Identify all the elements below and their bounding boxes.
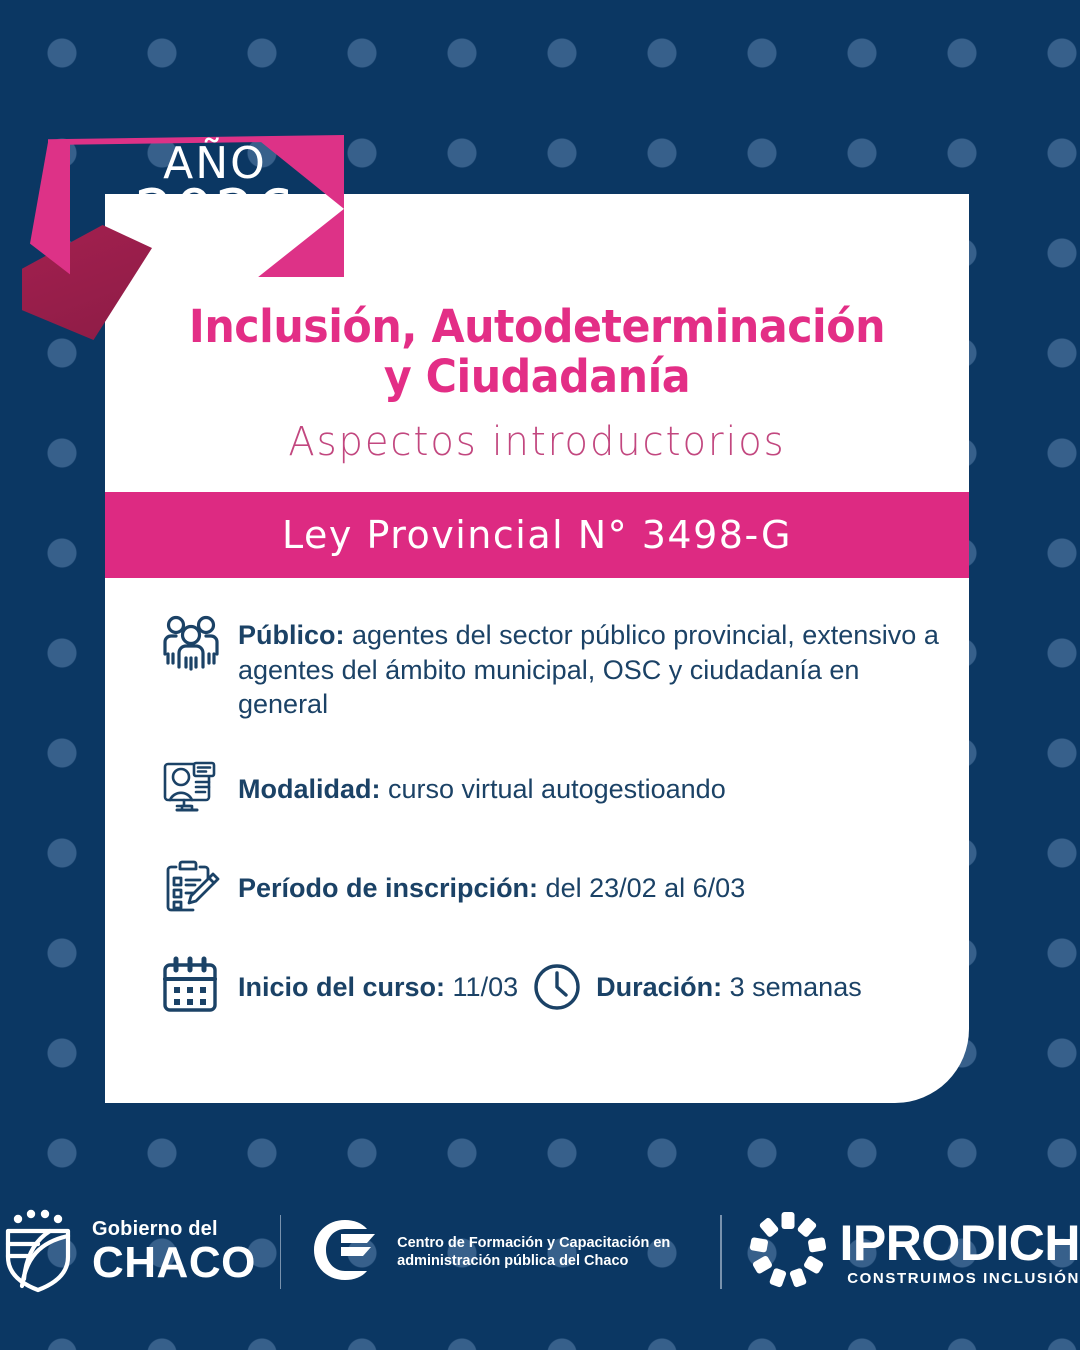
inicio-group: Inicio del curso: 11/03 xyxy=(238,970,518,1005)
info-row-publico: Público: agentes del sector público prov… xyxy=(160,612,950,722)
footer-logos: Gobierno del CHACO Centro de Formación y… xyxy=(0,1192,1080,1312)
iprodich-ring-logo xyxy=(746,1208,830,1297)
info-row-publico-label: Público: xyxy=(238,620,345,650)
info-row-periodo: Período de inscripción: del 23/02 al 6/0… xyxy=(160,855,950,922)
group-people-icon xyxy=(160,612,222,679)
clock-icon xyxy=(532,962,582,1012)
cefocap-logo xyxy=(305,1214,385,1291)
info-row-inicio-text: Inicio del curso: 11/03 Duración: 3 sema… xyxy=(238,962,950,1012)
info-row-modalidad-text: Modalidad: curso virtual autogestioando xyxy=(238,772,950,807)
info-row-inicio: Inicio del curso: 11/03 Duración: 3 sema… xyxy=(160,956,950,1019)
info-row-modalidad-label: Modalidad: xyxy=(238,774,381,804)
info-row-duracion-label: Duración: xyxy=(596,972,722,1002)
iprodich-text: IPRODICH CONSTRUIMOS INCLUSIÓN xyxy=(840,1218,1080,1286)
duracion-group: Duración: 3 semanas xyxy=(596,970,862,1005)
footer-divider-2 xyxy=(720,1215,721,1289)
gobierno-chaco-logo-block: Gobierno del CHACO xyxy=(0,1206,256,1299)
info-row-modalidad-value: curso virtual autogestioando xyxy=(381,774,726,804)
info-row-periodo-text: Período de inscripción: del 23/02 al 6/0… xyxy=(238,871,950,906)
info-row-publico-text: Público: agentes del sector público prov… xyxy=(238,612,950,722)
page-title: Inclusión, Autodeterminación y Ciudadaní… xyxy=(127,302,948,403)
page-title-line1: Inclusión, Autodeterminación xyxy=(127,302,948,352)
title-zone: Inclusión, Autodeterminación y Ciudadaní… xyxy=(105,194,969,465)
law-band-label: Ley Provincial N° 3498-G xyxy=(282,513,792,557)
clipboard-pencil-icon xyxy=(160,855,222,922)
law-band: Ley Provincial N° 3498-G xyxy=(105,492,969,578)
iprodich-logo-block: IPRODICH CONSTRUIMOS INCLUSIÓN xyxy=(746,1208,1080,1297)
cefocap-logo-block: Centro de Formación y Capacitación en ad… xyxy=(305,1214,696,1291)
gobierno-chaco-text: Gobierno del CHACO xyxy=(92,1219,256,1285)
info-row-inicio-value: 11/03 xyxy=(445,972,518,1002)
footer-divider-1 xyxy=(280,1215,281,1289)
info-row-modalidad: Modalidad: curso virtual autogestioando xyxy=(160,758,950,821)
info-row-periodo-value: del 23/02 al 6/03 xyxy=(538,873,745,903)
info-list: Público: agentes del sector público prov… xyxy=(160,612,950,1019)
info-row-duracion-value: 3 semanas xyxy=(722,972,862,1002)
info-row-periodo-label: Período de inscripción: xyxy=(238,873,538,903)
cefocap-text: Centro de Formación y Capacitación en ad… xyxy=(397,1234,696,1270)
gobierno-line1: Gobierno del xyxy=(92,1219,256,1239)
monitor-profile-icon xyxy=(160,758,222,821)
iprodich-name: IPRODICH xyxy=(840,1218,1080,1268)
info-row-inicio-label: Inicio del curso: xyxy=(238,972,445,1002)
page-subtitle: Aspectos introductorios xyxy=(122,419,951,465)
gobierno-line2: CHACO xyxy=(92,1241,256,1285)
chaco-shield-logo xyxy=(0,1206,78,1299)
iprodich-tagline: CONSTRUIMOS INCLUSIÓN xyxy=(840,1271,1080,1286)
page-title-line2: y Ciudadanía xyxy=(127,352,948,402)
calendar-icon xyxy=(160,956,222,1019)
